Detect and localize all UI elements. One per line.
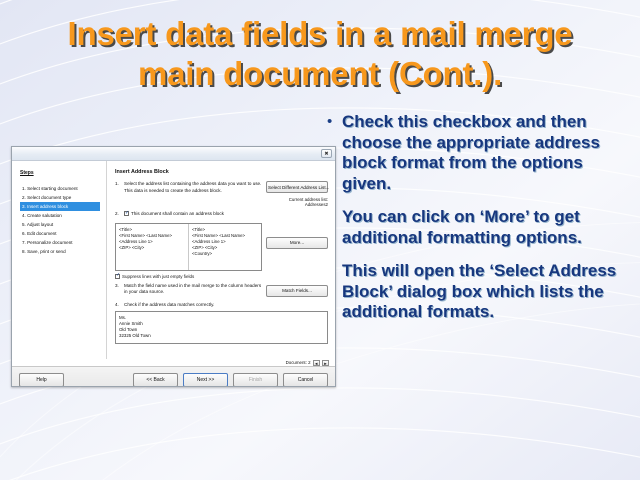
finish-button: Finish (233, 373, 278, 387)
step-2-number: 2. (115, 211, 124, 218)
cancel-button[interactable]: Cancel (283, 373, 328, 387)
step-4-number: 4. (115, 302, 124, 309)
address-format-option-2[interactable]: <Title> <First Name> <Last Name> <Addres… (188, 224, 261, 270)
bullet-text: Check this checkbox and then choose the … (342, 112, 625, 194)
slide-canvas: Insert data fields in a mail merge main … (0, 0, 640, 480)
next-button[interactable]: Next >> (183, 373, 228, 387)
addr1-line-4: <ZIP> <City> (119, 245, 185, 251)
title-line-1: Insert data fields in a mail merge (18, 14, 622, 54)
bullet-text: This will open the ‘Select Address Block… (342, 261, 625, 323)
step-3-text: Match the field name used in the mail me… (124, 283, 262, 296)
step-1-number: 1. (115, 181, 124, 194)
step-item-7[interactable]: 7. Personalize document (20, 238, 100, 247)
steps-pane: Steps 1. Select starting document 2. Sel… (12, 161, 107, 359)
dialog-heading: Insert Address Block (115, 169, 328, 175)
dialog-body: Steps 1. Select starting document 2. Sel… (12, 161, 335, 359)
bullet-text: You can click on ‘More’ to get additiona… (342, 207, 625, 248)
step-4-row: 4. Check if the address data matches cor… (115, 302, 328, 309)
step-item-1[interactable]: 1. Select starting document (20, 184, 100, 193)
bullet-item: • This will open the ‘Select Address Blo… (325, 261, 625, 323)
step-3-number: 3. (115, 283, 124, 296)
address-format-option-1[interactable]: <Title> <First Name> <Last Name> <Addres… (116, 224, 188, 270)
step-2-checkbox-row[interactable]: This document shall contain an address b… (124, 211, 328, 218)
help-button[interactable]: Help (19, 373, 64, 387)
step-2-row: 2. This document shall contain an addres… (115, 211, 328, 218)
preview-line-4: 32325 Old Town (119, 333, 324, 339)
addr2-line-5: <Country> (192, 251, 258, 257)
close-icon[interactable]: ✖ (321, 149, 332, 158)
suppress-lines-checkbox[interactable] (115, 274, 120, 279)
step-1-text: Select the address list containing the a… (124, 181, 262, 194)
more-button[interactable]: More... (266, 237, 328, 249)
page-title: Insert data fields in a mail merge main … (18, 14, 622, 94)
title-line-2: main document (Cont.). (18, 54, 622, 94)
step-item-2[interactable]: 2. Select document type (20, 193, 100, 202)
step-item-3-active[interactable]: 3. Insert address block (20, 202, 100, 211)
document-navigator: Document: 2 ◄ ► (12, 359, 335, 366)
back-button[interactable]: << Back (133, 373, 178, 387)
step-item-6[interactable]: 6. Edit document (20, 229, 100, 238)
steps-heading: Steps (20, 170, 100, 176)
step-item-8[interactable]: 8. Save, print or send (20, 247, 100, 256)
suppress-lines-label: Suppress lines with just empty fields (122, 274, 194, 279)
bullet-marker-icon: • (325, 112, 342, 132)
document-counter-label: Document: 2 (286, 360, 311, 365)
document-prev-icon[interactable]: ◄ (313, 360, 320, 366)
step-item-5[interactable]: 5. Adjust layout (20, 220, 100, 229)
step-4-text: Check if the address data matches correc… (124, 302, 328, 309)
bullet-item: • You can click on ‘More’ to get additio… (325, 207, 625, 248)
match-fields-button[interactable]: Match Fields... (266, 285, 328, 297)
step-2-checkbox-label: This document shall contain an address b… (131, 211, 224, 216)
document-next-icon[interactable]: ► (322, 360, 329, 366)
address-preview: Ms. Annie Smith Old Town 32325 Old Town (115, 311, 328, 344)
current-address-list-label: Current address list: Addresses2 (266, 197, 328, 207)
dialog-button-bar: Help << Back Next >> Finish Cancel (12, 366, 335, 387)
step-item-4[interactable]: 4. Create salutation (20, 211, 100, 220)
dialog-titlebar: ✖ (12, 147, 335, 161)
bullet-list: • Check this checkbox and then choose th… (325, 112, 625, 336)
select-different-address-list-button[interactable]: Select Different Address List... (266, 181, 328, 193)
suppress-lines-row[interactable]: Suppress lines with just empty fields (115, 274, 262, 279)
address-block-format-list[interactable]: <Title> <First Name> <Last Name> <Addres… (115, 223, 262, 271)
step-1-row: 1. Select the address list containing th… (115, 181, 262, 194)
mail-merge-wizard-screenshot: ✖ Steps 1. Select starting document 2. S… (11, 146, 336, 387)
step-3-row: 3. Match the field name used in the mail… (115, 283, 262, 296)
address-block-checkbox[interactable] (124, 211, 129, 216)
content-pane: Insert Address Block 1. Select the addre… (107, 161, 335, 359)
bullet-item: • Check this checkbox and then choose th… (325, 112, 625, 194)
